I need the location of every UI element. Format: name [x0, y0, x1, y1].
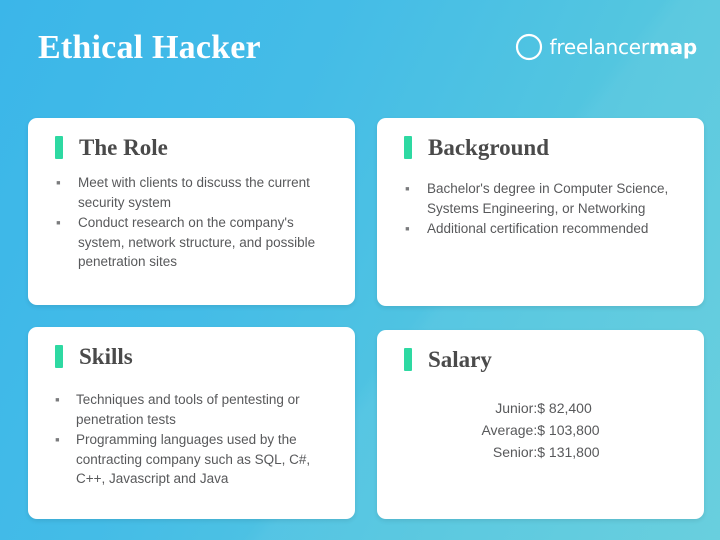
salary-label: Senior: — [481, 441, 537, 463]
salary-value: $ 82,400 — [537, 397, 599, 419]
card-header: Salary — [377, 330, 704, 371]
bullet-icon: ▪ — [56, 213, 61, 233]
brand-logo-text: freelancermap — [549, 35, 697, 59]
card-title: Salary — [428, 348, 492, 371]
bullet-icon: ▪ — [405, 179, 410, 199]
list-item-text: Additional certification recommended — [427, 221, 648, 236]
bullet-icon: ▪ — [55, 430, 60, 450]
list-item-text: Bachelor's degree in Computer Science, S… — [427, 181, 668, 216]
bullet-list: ▪ Meet with clients to discuss the curre… — [28, 173, 355, 272]
salary-value: $ 103,800 — [537, 419, 599, 441]
list-item: ▪ Conduct research on the company's syst… — [78, 213, 335, 272]
card-the-role: The Role ▪ Meet with clients to discuss … — [28, 118, 355, 305]
list-item: ▪ Meet with clients to discuss the curre… — [78, 173, 335, 212]
card-header: Background — [377, 118, 704, 159]
accent-bar-icon — [55, 136, 63, 159]
list-item: ▪ Additional certification recommended — [427, 219, 684, 239]
brand-logo[interactable]: freelancermap — [515, 33, 697, 61]
list-item: ▪ Techniques and tools of pentesting or … — [76, 390, 335, 429]
card-header: Skills — [28, 327, 355, 368]
accent-bar-icon — [404, 136, 412, 159]
page-title: Ethical Hacker — [38, 29, 261, 66]
bullet-list: ▪ Techniques and tools of pentesting or … — [28, 390, 355, 489]
table-row: Senior: $ 131,800 — [481, 441, 599, 463]
card-header: The Role — [28, 118, 355, 159]
salary-value: $ 131,800 — [537, 441, 599, 463]
card-title: Skills — [79, 345, 133, 368]
card-title: The Role — [79, 136, 168, 159]
list-item-text: Programming languages used by the contra… — [76, 432, 310, 486]
card-skills: Skills ▪ Techniques and tools of pentest… — [28, 327, 355, 519]
list-item: ▪ Bachelor's degree in Computer Science,… — [427, 179, 684, 218]
header: Ethical Hacker freelancermap — [0, 0, 720, 100]
brand-logo-text-light: freelancer — [549, 35, 648, 59]
freelancermap-circle-icon — [515, 33, 543, 61]
card-title: Background — [428, 136, 549, 159]
list-item-text: Meet with clients to discuss the current… — [78, 175, 310, 210]
table-row: Average: $ 103,800 — [481, 419, 599, 441]
bullet-icon: ▪ — [55, 390, 60, 410]
salary-label: Junior: — [481, 397, 537, 419]
salary-table: Junior: $ 82,400 Average: $ 103,800 Seni… — [481, 397, 599, 463]
list-item-text: Techniques and tools of pentesting or pe… — [76, 392, 300, 427]
brand-logo-text-bold: map — [649, 35, 697, 59]
bullet-icon: ▪ — [405, 219, 410, 239]
list-item-text: Conduct research on the company's system… — [78, 215, 315, 269]
accent-bar-icon — [55, 345, 63, 368]
list-item: ▪ Programming languages used by the cont… — [76, 430, 335, 489]
salary-label: Average: — [481, 419, 537, 441]
card-salary: Salary Junior: $ 82,400 Average: $ 103,8… — [377, 330, 704, 519]
card-background: Background ▪ Bachelor's degree in Comput… — [377, 118, 704, 306]
table-row: Junior: $ 82,400 — [481, 397, 599, 419]
bullet-icon: ▪ — [56, 173, 61, 193]
bullet-list: ▪ Bachelor's degree in Computer Science,… — [377, 179, 704, 239]
accent-bar-icon — [404, 348, 412, 371]
